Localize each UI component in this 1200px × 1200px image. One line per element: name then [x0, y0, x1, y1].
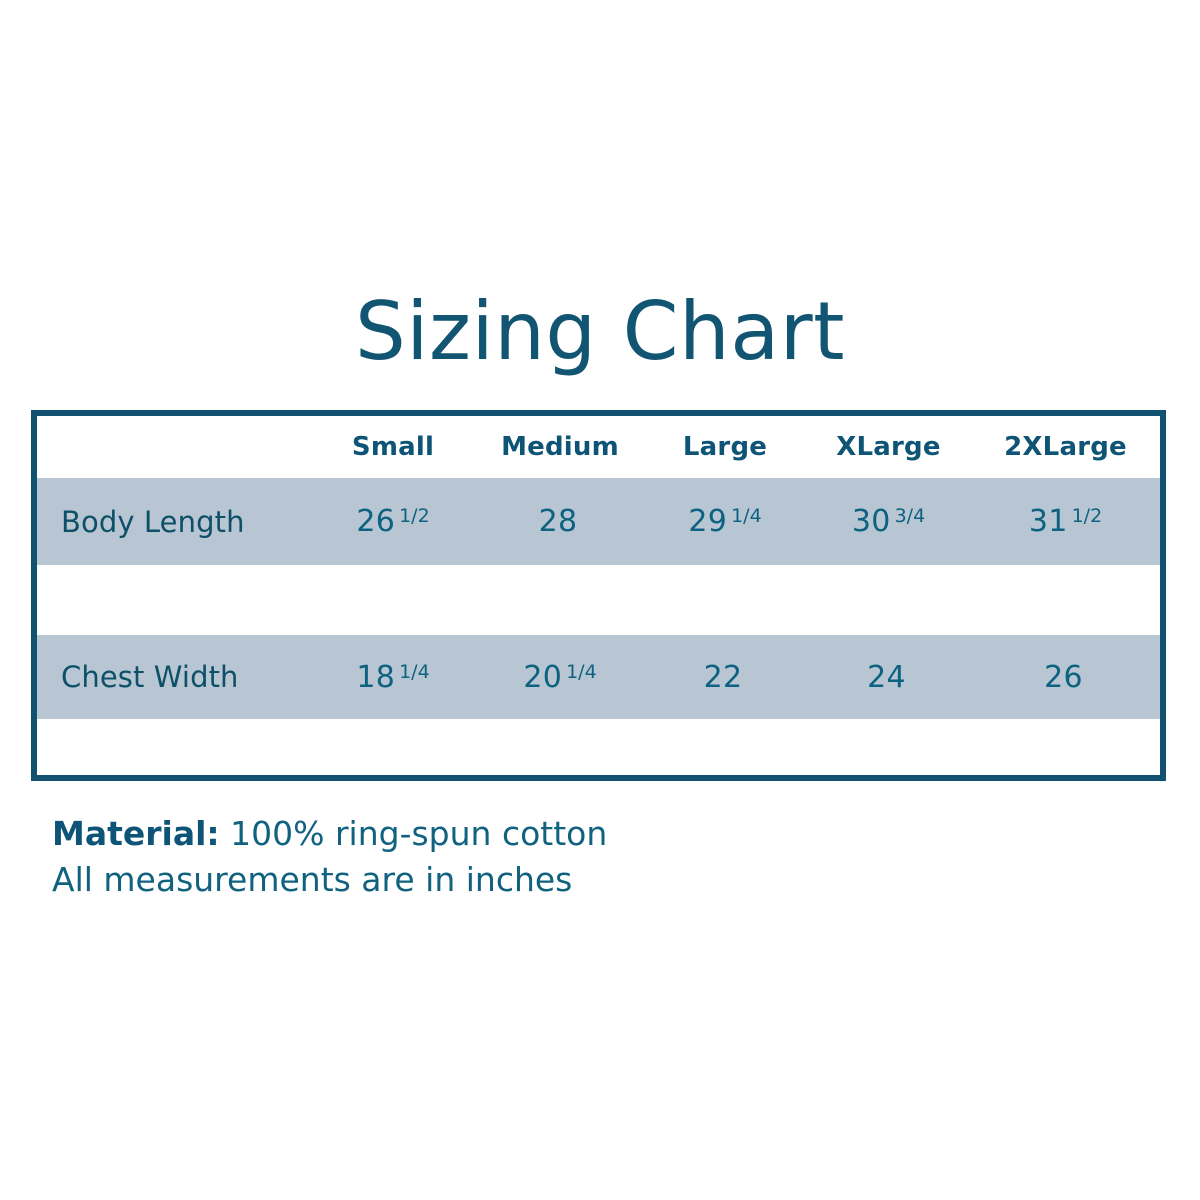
row-header-body-length: Body Length — [37, 505, 310, 539]
column-header-2xlarge: 2XLarge — [971, 432, 1160, 462]
cell-whole: 24 — [867, 660, 906, 695]
sizing-table-inner: Small Medium Large XLarge 2XLarge Body L… — [37, 416, 1160, 775]
cell-whole: 26 — [356, 504, 395, 539]
cell-whole: 20 — [523, 660, 562, 695]
cell-whole: 30 — [852, 504, 891, 539]
cell-whole: 31 — [1029, 504, 1068, 539]
cell-fraction: 1/4 — [566, 661, 597, 683]
column-header-xlarge: XLarge — [806, 432, 971, 462]
cell-whole: 22 — [704, 660, 743, 695]
column-header-medium: Medium — [476, 432, 644, 462]
cell-body-length-large: 291/4 — [644, 504, 806, 539]
sizing-chart-page: Sizing Chart Small Medium Large XLarge 2… — [0, 0, 1200, 1200]
units-note: All measurements are in inches — [52, 856, 607, 904]
cell-chest-width-large: 22 — [644, 660, 806, 695]
cell-body-length-2xlarge: 311/2 — [971, 504, 1160, 539]
footer-notes: Material: 100% ring-spun cotton All meas… — [52, 812, 607, 904]
sizing-table: Small Medium Large XLarge 2XLarge Body L… — [31, 410, 1166, 781]
cell-whole: 18 — [356, 660, 395, 695]
cell-chest-width-small: 181/4 — [310, 660, 476, 695]
cell-body-length-xlarge: 303/4 — [806, 504, 971, 539]
page-title: Sizing Chart — [0, 292, 1200, 372]
cell-body-length-medium: 28 — [476, 504, 644, 539]
cell-fraction: 1/2 — [1072, 505, 1103, 527]
cell-fraction: 1/2 — [399, 505, 430, 527]
sizing-table-grid: Small Medium Large XLarge 2XLarge Body L… — [37, 416, 1160, 775]
column-header-small: Small — [310, 432, 476, 462]
cell-fraction: 3/4 — [895, 505, 926, 527]
cell-whole: 28 — [539, 504, 578, 539]
cell-fraction: 1/4 — [731, 505, 762, 527]
column-header-large: Large — [644, 432, 806, 462]
material-value: 100% ring-spun cotton — [230, 814, 607, 853]
material-label: Material: — [52, 814, 220, 853]
cell-whole: 29 — [688, 504, 727, 539]
material-note: Material: 100% ring-spun cotton — [52, 812, 607, 856]
cell-whole: 26 — [1044, 660, 1083, 695]
cell-chest-width-xlarge: 24 — [806, 660, 971, 695]
cell-chest-width-medium: 201/4 — [476, 660, 644, 695]
cell-body-length-small: 261/2 — [310, 504, 476, 539]
row-header-chest-width: Chest Width — [37, 660, 310, 694]
cell-fraction: 1/4 — [399, 661, 430, 683]
cell-chest-width-2xlarge: 26 — [971, 660, 1160, 695]
